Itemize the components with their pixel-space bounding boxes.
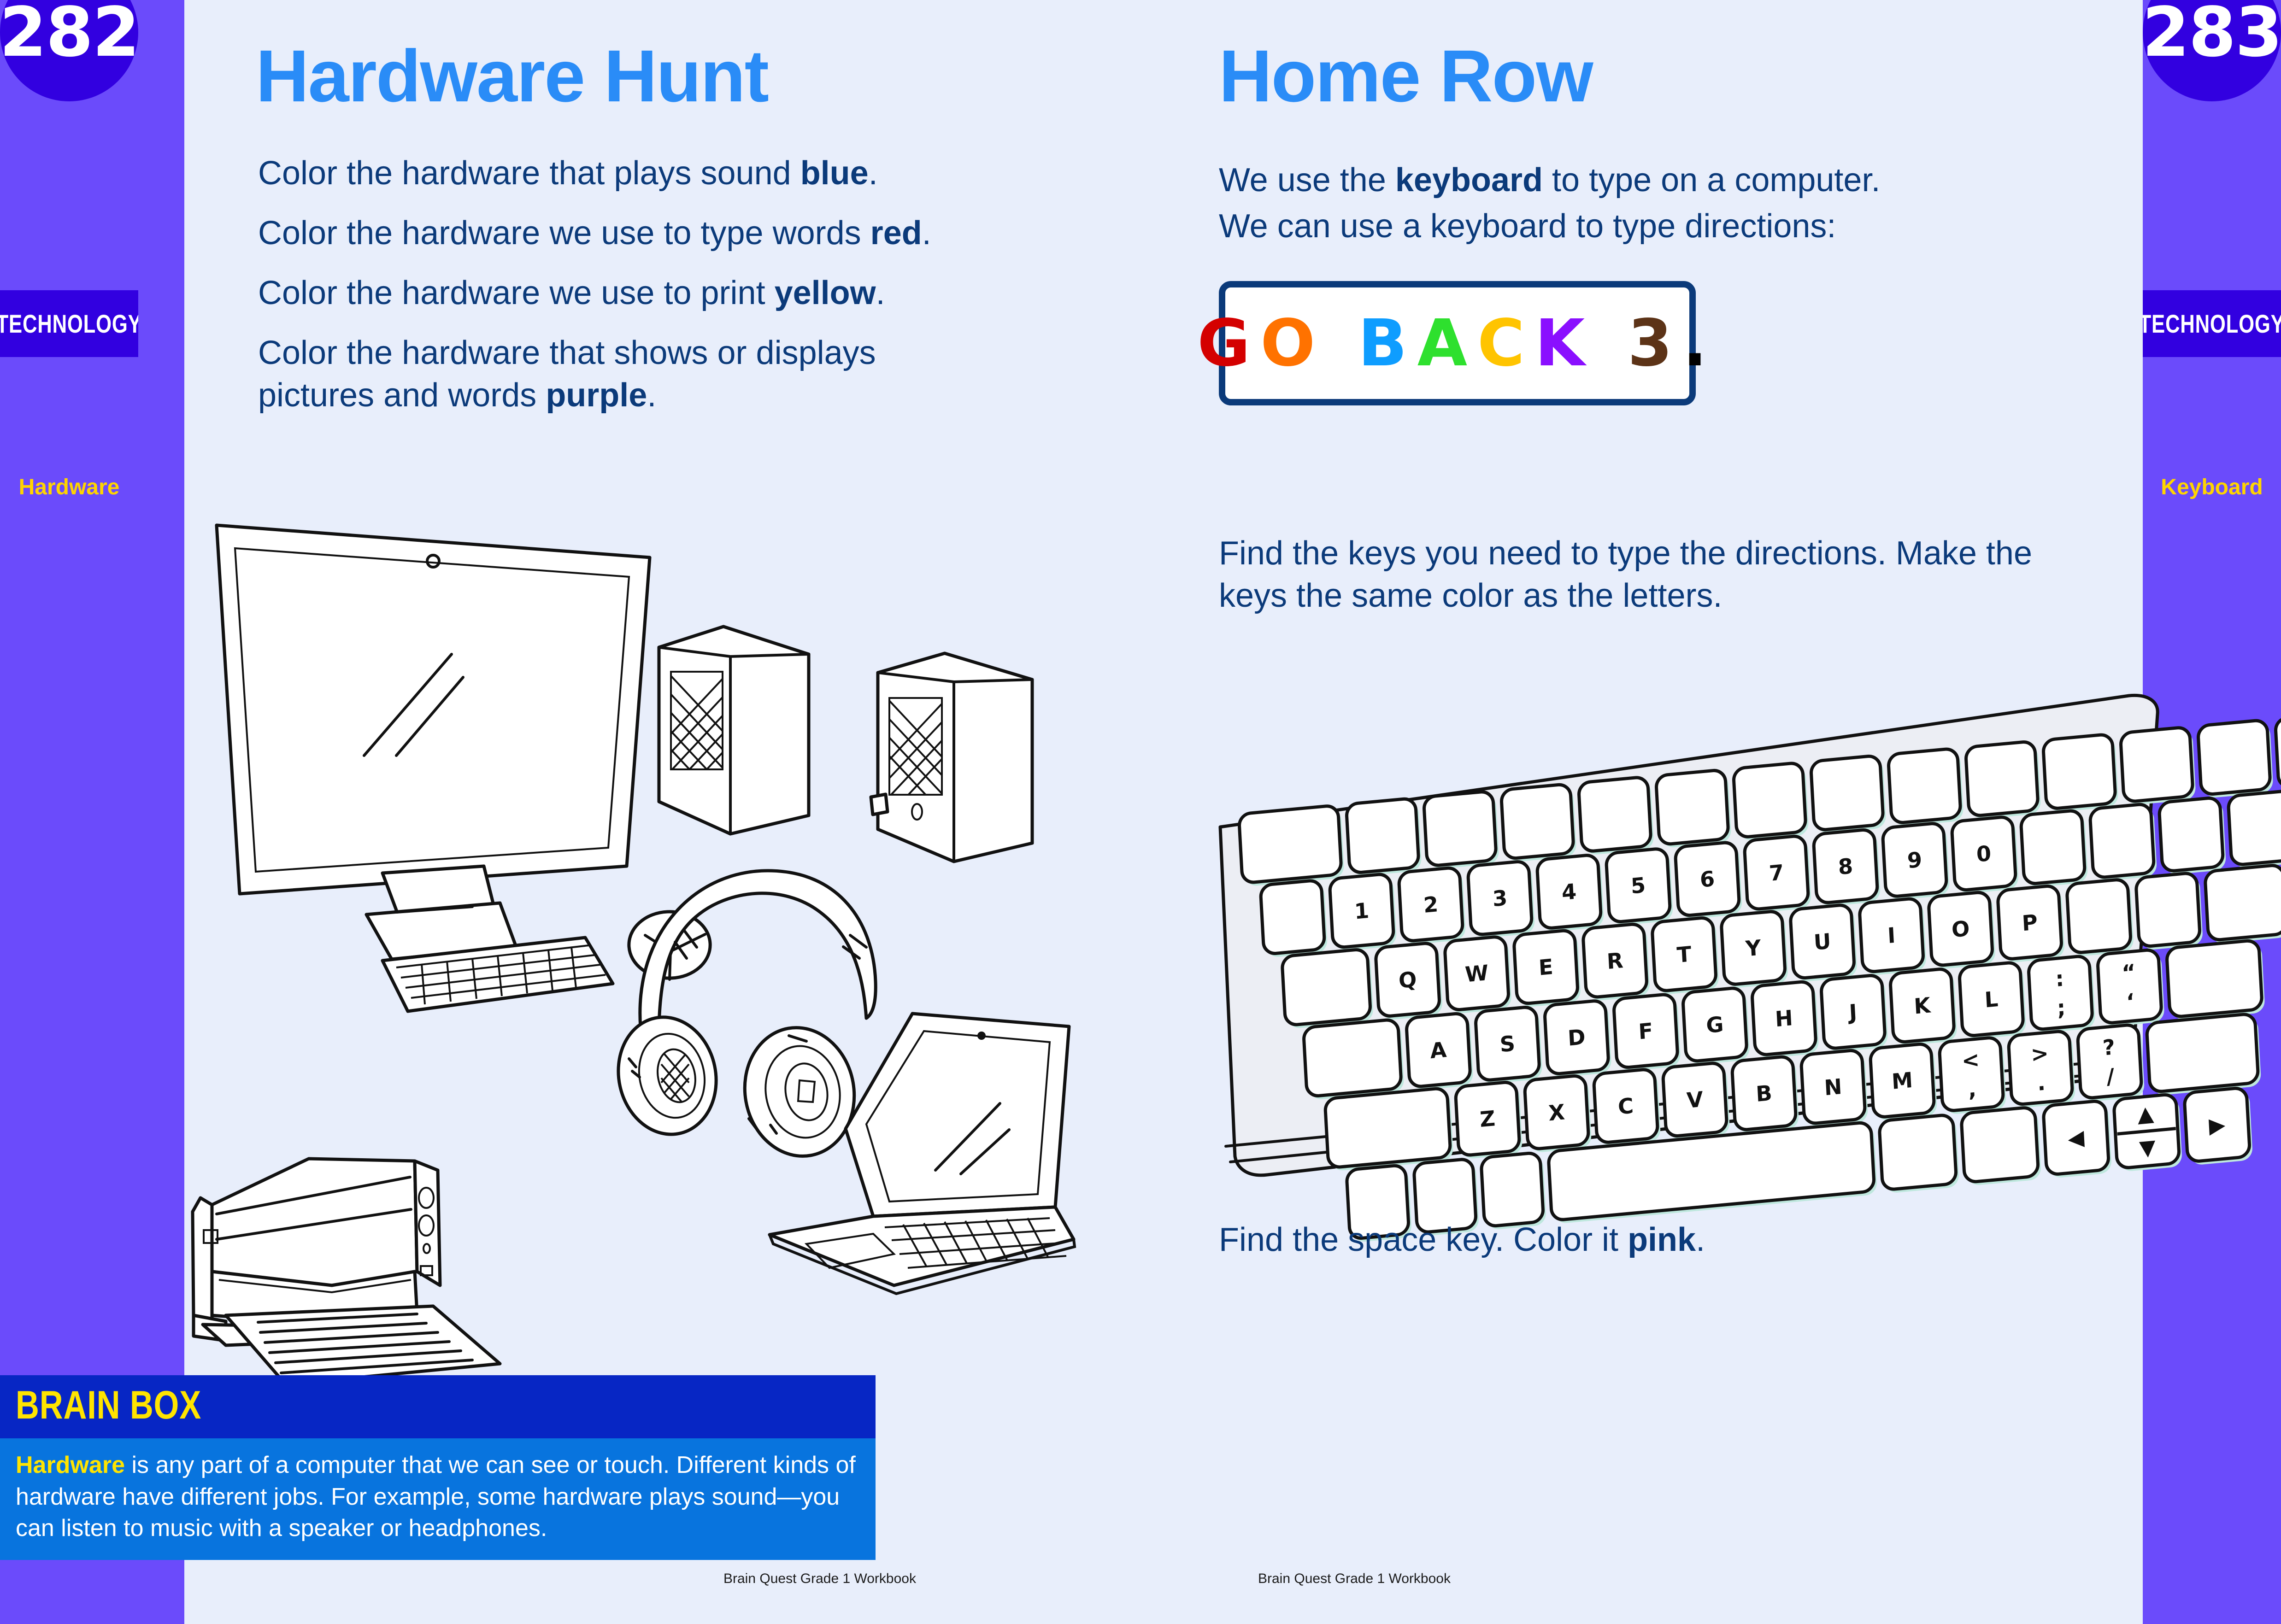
page-number-badge-right: 283 bbox=[2143, 0, 2281, 101]
key-blank[interactable] bbox=[2166, 939, 2265, 1021]
key-legend: 9 bbox=[1907, 847, 1923, 874]
key-blank[interactable] bbox=[1578, 776, 1654, 856]
key-C[interactable]: C bbox=[1593, 1068, 1661, 1147]
key-legend-lower: ‘ bbox=[2126, 989, 2135, 1014]
key-legend: M bbox=[1891, 1067, 1914, 1094]
task-2-keyword: pink bbox=[1628, 1221, 1696, 1258]
brain-box-title: BRAIN BOX bbox=[16, 1383, 201, 1428]
direction-glyph-5: C bbox=[1477, 306, 1535, 381]
instruction-1-text: Color the hardware that plays sound bbox=[258, 155, 800, 192]
key-S[interactable]: S bbox=[1475, 1006, 1543, 1085]
key-blank[interactable] bbox=[2120, 727, 2196, 806]
key-legend: L bbox=[1984, 986, 1999, 1013]
direction-glyph-9: . bbox=[1683, 306, 1717, 381]
key-legend-lower: . bbox=[2037, 1070, 2046, 1096]
key-◀[interactable]: ◀ bbox=[2043, 1100, 2112, 1179]
key-.[interactable]: >. bbox=[2008, 1030, 2076, 1109]
direction-glyph-8: 3 bbox=[1628, 306, 1682, 381]
key-legend-upper: ? bbox=[2102, 1034, 2116, 1060]
direction-glyphs: GO BACK 3. bbox=[1197, 306, 1717, 381]
key-legend: Q bbox=[1398, 967, 1417, 993]
side-label-right: Keyboard bbox=[2143, 475, 2281, 500]
direction-glyph-6: K bbox=[1535, 306, 1595, 381]
brain-box: BRAIN BOX Hardware is any part of a comp… bbox=[0, 1375, 876, 1560]
instruction-1-keyword: blue bbox=[800, 155, 869, 192]
key-legend: 6 bbox=[1699, 866, 1716, 892]
key-blank[interactable] bbox=[1879, 1114, 1960, 1194]
key-legend: Y bbox=[1745, 935, 1762, 962]
key-9[interactable]: 9 bbox=[1882, 822, 1950, 901]
key-blank[interactable] bbox=[1888, 748, 1964, 827]
key-legend: T bbox=[1676, 941, 1693, 967]
key-legend: 5 bbox=[1630, 873, 1646, 899]
key-H[interactable]: H bbox=[1752, 981, 1819, 1060]
key-legend: ▶ bbox=[2208, 1112, 2226, 1138]
key-legend: K bbox=[1913, 992, 1932, 1019]
key-I[interactable]: I bbox=[1859, 897, 1927, 976]
instruction-3-keyword: yellow bbox=[775, 275, 876, 311]
key-1[interactable]: 1 bbox=[1329, 873, 1397, 952]
instruction-4: Color the hardware that shows or display… bbox=[258, 332, 931, 416]
page-number-badge-left: 282 bbox=[0, 0, 138, 101]
key-legend: X bbox=[1548, 1099, 1565, 1126]
intro-line-2: We can use a keyboard to type directions… bbox=[1219, 205, 2094, 247]
direction-glyph-1: O bbox=[1260, 306, 1325, 381]
direction-glyph-0: G bbox=[1197, 306, 1260, 381]
key-blank[interactable] bbox=[1325, 1087, 1454, 1172]
right-page: Home Row We use the keyboard to type on … bbox=[1152, 0, 2143, 1624]
intro-1-keyword: keyboard bbox=[1395, 162, 1543, 199]
key-,[interactable]: <, bbox=[1939, 1037, 2007, 1115]
key-3[interactable]: 3 bbox=[1468, 861, 1535, 939]
key-blank[interactable] bbox=[2090, 803, 2158, 882]
key-legend-lower: / bbox=[2106, 1064, 2115, 1089]
key-blank[interactable] bbox=[1656, 769, 1732, 849]
key-blank[interactable] bbox=[1303, 1019, 1405, 1100]
key-B[interactable]: B bbox=[1732, 1055, 1799, 1134]
key-M[interactable]: M bbox=[1870, 1043, 1938, 1122]
key-blank[interactable] bbox=[2146, 1013, 2262, 1096]
key-legend: 1 bbox=[1354, 898, 1370, 924]
key-legend: 3 bbox=[1492, 885, 1508, 911]
key-5[interactable]: 5 bbox=[1606, 848, 1674, 926]
key-legend: 7 bbox=[1769, 860, 1785, 886]
key-L[interactable]: L bbox=[1959, 962, 2027, 1040]
key-legend: W bbox=[1464, 960, 1489, 987]
key-legend: A bbox=[1429, 1037, 1447, 1063]
direction-card: GO BACK 3. bbox=[1219, 281, 1696, 405]
key-0[interactable]: 0 bbox=[1952, 816, 2019, 895]
printer-illustration bbox=[9, 1133, 562, 1391]
key-X[interactable]: X bbox=[1524, 1075, 1592, 1154]
key-legend: 2 bbox=[1423, 891, 1439, 918]
subject-tab-left: TECHNOLOGY bbox=[0, 290, 138, 357]
key-Q[interactable]: Q bbox=[1376, 942, 1443, 1021]
key-‘[interactable]: “‘ bbox=[2097, 949, 2165, 1028]
brain-box-text: is any part of a computer that we can se… bbox=[16, 1452, 856, 1542]
key-legend: 4 bbox=[1561, 879, 1577, 905]
instruction-4-suffix: . bbox=[647, 377, 656, 414]
key-legend: B bbox=[1755, 1080, 1773, 1107]
key-4[interactable]: 4 bbox=[1537, 854, 1605, 933]
key-P[interactable]: P bbox=[1998, 885, 2065, 964]
key-8[interactable]: 8 bbox=[1813, 829, 1881, 908]
instruction-4-keyword: purple bbox=[546, 377, 647, 414]
key-blank[interactable] bbox=[2228, 789, 2281, 869]
key-blank[interactable] bbox=[1811, 755, 1887, 834]
instruction-1: Color the hardware that plays sound blue… bbox=[258, 152, 1069, 194]
subject-tab-label-left: TECHNOLOGY bbox=[0, 309, 142, 339]
key-blank[interactable] bbox=[2136, 872, 2204, 951]
subject-tab-label-right: TECHNOLOGY bbox=[2139, 309, 2281, 339]
key-U[interactable]: U bbox=[1790, 904, 1858, 983]
laptop-illustration bbox=[751, 921, 1212, 1304]
key-G[interactable]: G bbox=[1682, 987, 1750, 1066]
key-legend: ◀ bbox=[2067, 1125, 2085, 1151]
page-title-left: Hardware Hunt bbox=[256, 39, 768, 113]
key-legend: I bbox=[1887, 923, 1896, 948]
key-legend: F bbox=[1638, 1018, 1653, 1044]
instruction-2-suffix: . bbox=[922, 215, 931, 252]
left-page: Hardware Hunt Color the hardware that pl… bbox=[184, 0, 1152, 1624]
key-J[interactable]: J bbox=[1821, 974, 1888, 1053]
footer-left: Brain Quest Grade 1 Workbook bbox=[723, 1571, 916, 1587]
page-title-right: Home Row bbox=[1219, 39, 1593, 113]
instruction-3-suffix: . bbox=[876, 275, 885, 311]
intro-1-suffix: to type on a computer. bbox=[1543, 162, 1880, 199]
key-blank[interactable] bbox=[2205, 864, 2281, 944]
key-▶[interactable]: ▶ bbox=[2184, 1087, 2253, 1166]
arrow-up-icon: ▲ bbox=[2137, 1101, 2155, 1127]
key-Z[interactable]: Z bbox=[1455, 1081, 1523, 1160]
key-legend-upper: < bbox=[1961, 1047, 1981, 1073]
page-number-right: 283 bbox=[2142, 0, 2281, 72]
key-V[interactable]: V bbox=[1663, 1062, 1730, 1141]
key-/[interactable]: ?/ bbox=[2077, 1024, 2145, 1102]
key-legend: R bbox=[1606, 948, 1623, 974]
key-blank[interactable] bbox=[1501, 784, 1577, 863]
key-blank[interactable] bbox=[2067, 879, 2134, 957]
intro-line-1: We use the keyboard to type on a compute… bbox=[1219, 159, 2094, 201]
key-D[interactable]: D bbox=[1544, 1000, 1612, 1079]
key-blank[interactable] bbox=[1346, 797, 1422, 877]
key-legend: U bbox=[1813, 929, 1832, 955]
key-legend: V bbox=[1686, 1087, 1704, 1113]
brain-box-keyword: Hardware bbox=[16, 1452, 125, 1478]
key-O[interactable]: O bbox=[1928, 891, 1996, 970]
key-T[interactable]: T bbox=[1652, 917, 1720, 996]
arrow-down-icon: ▼ bbox=[2139, 1134, 2157, 1161]
keyboard-illustration: 1234567890QWERTYUIOPASDFGHJKL:;“‘ZXCVBNM… bbox=[1212, 663, 2203, 1184]
key-blank[interactable] bbox=[2021, 809, 2088, 888]
key-;[interactable]: :; bbox=[2028, 955, 2096, 1034]
direction-glyph-3: B bbox=[1358, 306, 1417, 381]
instruction-3: Color the hardware we use to print yello… bbox=[258, 272, 1069, 314]
key-legend: E bbox=[1538, 954, 1553, 980]
subject-tab-right: TECHNOLOGY bbox=[2143, 290, 2281, 357]
key-blank[interactable] bbox=[1282, 949, 1374, 1030]
key-legend: D bbox=[1567, 1024, 1586, 1050]
brain-box-header: BRAIN BOX bbox=[0, 1375, 876, 1438]
key-2[interactable]: 2 bbox=[1399, 867, 1466, 945]
key-blank[interactable] bbox=[1733, 762, 1809, 841]
key-blank[interactable] bbox=[1260, 879, 1328, 958]
key-legend: S bbox=[1499, 1031, 1516, 1057]
footer-right: Brain Quest Grade 1 Workbook bbox=[1258, 1571, 1451, 1587]
key-legend: P bbox=[2021, 909, 2038, 936]
key-blank[interactable] bbox=[1965, 741, 2041, 820]
key-legend: C bbox=[1617, 1093, 1634, 1120]
key-7[interactable]: 7 bbox=[1744, 835, 1812, 914]
instruction-1-suffix: . bbox=[869, 155, 878, 192]
key-legend-lower: , bbox=[1968, 1076, 1977, 1102]
key-blank[interactable] bbox=[1239, 805, 1345, 887]
brain-box-body: Hardware is any part of a computer that … bbox=[0, 1438, 876, 1560]
key-R[interactable]: R bbox=[1583, 923, 1651, 1002]
task-instruction-2: Find the space key. Color it pink. bbox=[1219, 1219, 2048, 1261]
page-number-left: 282 bbox=[0, 0, 139, 72]
key-6[interactable]: 6 bbox=[1675, 841, 1743, 920]
key-blank[interactable] bbox=[2198, 719, 2274, 798]
direction-glyph-4: A bbox=[1417, 306, 1477, 381]
direction-glyph-7 bbox=[1595, 306, 1628, 381]
key-legend: 8 bbox=[1838, 853, 1854, 879]
workbook-spread: 282 TECHNOLOGY Hardware 283 TECHNOLOGY K… bbox=[0, 0, 2281, 1624]
key-A[interactable]: A bbox=[1406, 1013, 1474, 1091]
key-legend: H bbox=[1775, 1005, 1793, 1032]
key-N[interactable]: N bbox=[1801, 1049, 1869, 1128]
instruction-2: Color the hardware we use to type words … bbox=[258, 212, 1069, 254]
key-legend-upper: “ bbox=[2121, 959, 2136, 985]
key-Y[interactable]: Y bbox=[1721, 910, 1789, 989]
key-legend: 0 bbox=[1976, 841, 1992, 867]
key-blank[interactable] bbox=[1423, 791, 1499, 870]
key-W[interactable]: W bbox=[1445, 936, 1512, 1014]
task-2-suffix: . bbox=[1696, 1221, 1705, 1258]
key-legend: Z bbox=[1479, 1106, 1496, 1132]
direction-glyph-2 bbox=[1325, 306, 1358, 381]
key-legend-lower: ; bbox=[2056, 995, 2066, 1021]
instruction-3-text: Color the hardware we use to print bbox=[258, 275, 775, 311]
key-legend: G bbox=[1705, 1012, 1724, 1038]
key-legend: N bbox=[1823, 1074, 1842, 1100]
side-label-left: Hardware bbox=[0, 475, 138, 500]
key-E[interactable]: E bbox=[1514, 929, 1581, 1008]
task-2-text: Find the space key. Color it bbox=[1219, 1221, 1628, 1258]
task-instruction-1: Find the keys you need to type the direc… bbox=[1219, 532, 2048, 617]
intro-1-text: We use the bbox=[1219, 162, 1395, 199]
key-legend-upper: : bbox=[2055, 966, 2064, 992]
key-legend: O bbox=[1951, 916, 1970, 942]
key-blank[interactable] bbox=[2159, 797, 2227, 876]
key-▲▼[interactable]: ▲▼ bbox=[2114, 1094, 2183, 1173]
instruction-2-text: Color the hardware we use to type words bbox=[258, 215, 870, 252]
key-K[interactable]: K bbox=[1890, 968, 1958, 1047]
instruction-2-keyword: red bbox=[870, 215, 922, 252]
key-legend-upper: > bbox=[2030, 1041, 2050, 1067]
key-blank[interactable] bbox=[2043, 733, 2119, 813]
key-blank[interactable] bbox=[1961, 1107, 2042, 1186]
key-F[interactable]: F bbox=[1613, 993, 1681, 1072]
